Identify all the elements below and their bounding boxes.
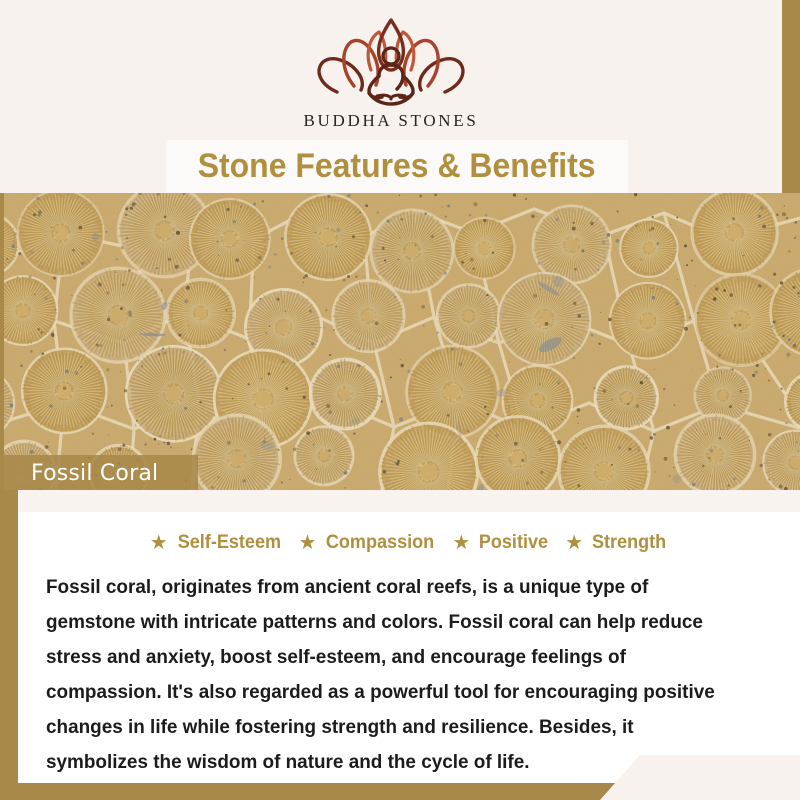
benefit-label: Compassion <box>326 532 434 554</box>
star-icon: ★ <box>565 533 583 553</box>
title-banner: Stone Features & Benefits <box>166 140 628 193</box>
photo-caption-band: Fossil Coral <box>0 455 198 491</box>
star-icon: ★ <box>452 533 470 553</box>
benefit-item: ★ Compassion <box>298 532 437 554</box>
page-title: Stone Features & Benefits <box>198 147 596 186</box>
benefit-item: ★ Strength <box>565 532 668 554</box>
photo-caption: Fossil Coral <box>31 461 158 486</box>
description-text: Fossil coral, originates from ancient co… <box>46 570 737 780</box>
star-icon: ★ <box>298 533 316 553</box>
brand-logo: BUDDHA STONES <box>0 14 782 131</box>
benefit-item: ★ Self-Esteem <box>150 532 284 554</box>
star-icon: ★ <box>150 533 168 553</box>
benefit-item: ★ Positive <box>452 532 550 554</box>
benefit-label: Positive <box>479 532 548 554</box>
benefit-label: Self-Esteem <box>177 532 280 554</box>
brand-name: BUDDHA STONES <box>303 111 478 131</box>
stone-photo <box>4 193 800 490</box>
lotus-meditation-figure-logo-icon <box>307 14 475 106</box>
benefit-label: Strength <box>592 532 666 554</box>
infographic-page: BUDDHA STONES Stone Features & Benefits <box>0 0 800 800</box>
content-panel-tint <box>18 490 800 512</box>
benefits-row: ★ Self-Esteem ★ Compassion ★ Positive ★ … <box>18 532 800 554</box>
